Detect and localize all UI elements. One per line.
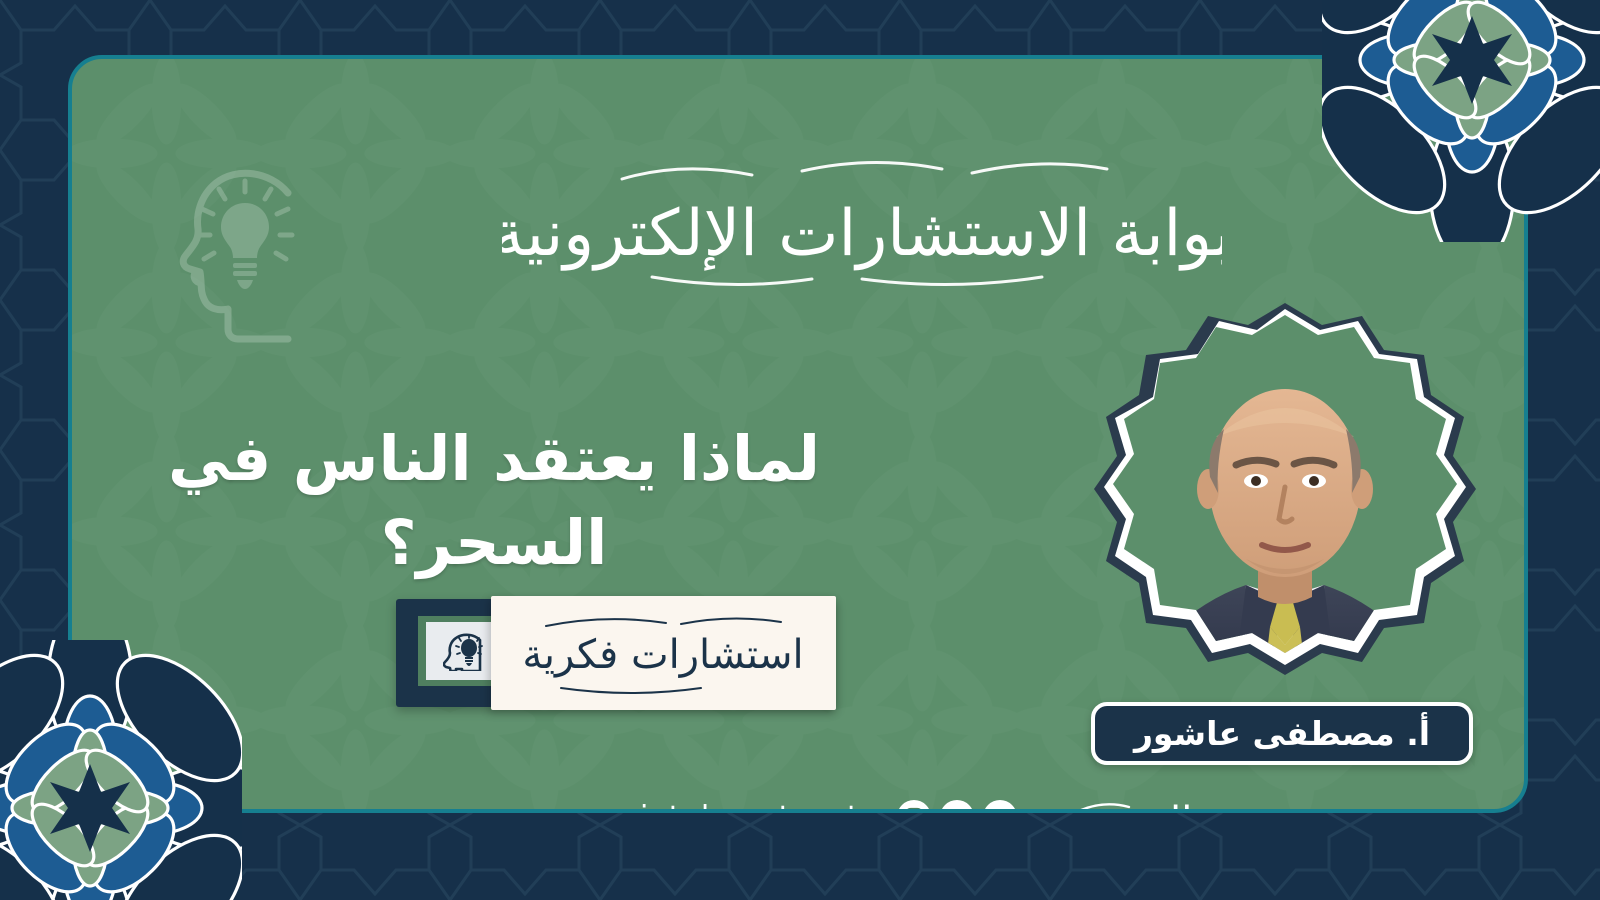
footer-bar: المجتمع [550,781,1201,813]
brand-plaque: استشارات فكرية [396,596,836,710]
portrait-photo [1086,297,1484,695]
islamic-rosette-icon-bottom-left [0,640,242,900]
speaker-name-badge: أ. مصطفى عاشور [1091,702,1473,765]
speaker-portrait [1086,297,1484,695]
head-lightbulb-icon [170,159,320,344]
almujtama-logo: المجتمع [1055,779,1201,813]
islamic-rosette-icon-top-right [1322,0,1600,242]
facebook-icon[interactable] [940,800,974,813]
header-calligraphy-text: بوابة الاستشارات الإلكترونية [502,197,1222,271]
plaque-text-panel: استشارات فكرية [491,596,836,710]
head-lightbulb-icon [443,631,489,671]
main-card: بوابة الاستشارات الإلكترونية لماذا يعتقد… [68,55,1528,813]
speaker-name: أ. مصطفى عاشور [1134,714,1430,753]
social-links [897,800,1017,813]
x-twitter-icon[interactable] [983,800,1017,813]
social-media-card: بوابة الاستشارات الإلكترونية لماذا يعتقد… [0,0,1600,900]
website-url[interactable]: www.istsharat.net [550,800,861,814]
page-title: لماذا يعتقد الناس في السحر؟ [104,417,884,584]
plaque-text: استشارات فكرية [522,632,803,678]
instagram-icon[interactable] [897,800,931,813]
header-calligraphy: بوابة الاستشارات الإلكترونية [502,137,1222,302]
